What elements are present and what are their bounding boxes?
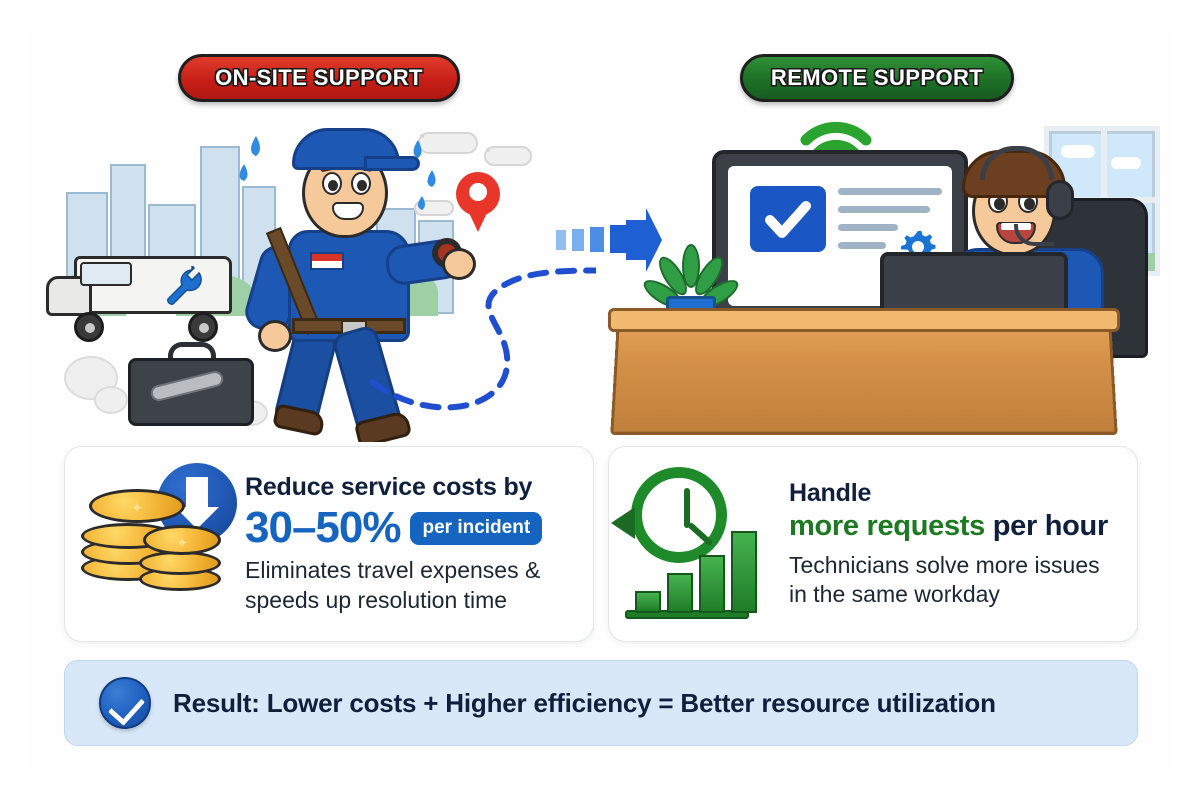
card-subtext: Eliminates travel expenses & speeds up r… (245, 556, 575, 615)
card-metric-row: more requests per hour (789, 510, 1119, 543)
per-incident-pill: per incident (410, 512, 542, 545)
dashed-route-path (366, 262, 596, 432)
technician-hand (258, 320, 292, 352)
screen-text-line (838, 224, 898, 231)
desk-top (608, 308, 1120, 332)
badge-on-site-support: ON-SITE SUPPORT (178, 54, 460, 102)
card-metric-suffix: per hour (985, 510, 1108, 542)
illustration-on-site (36, 112, 596, 442)
result-banner: Result: Lower costs + Higher efficiency … (64, 660, 1138, 746)
van-wheel (188, 312, 218, 342)
technician-eye (351, 172, 371, 195)
result-banner-text: Result: Lower costs + Higher efficiency … (173, 688, 996, 719)
bar-chart-bar (731, 531, 757, 613)
uniform-flag-patch (310, 252, 344, 270)
down-arrow-icon (186, 477, 208, 509)
card-metric-highlight: more requests (789, 510, 985, 542)
coin: ✦ (143, 525, 221, 555)
van-wheel (74, 312, 104, 342)
toolbox (128, 344, 254, 426)
card-metric-value: 30–50% (245, 506, 400, 550)
check-circle-icon (99, 677, 151, 729)
card-cost-savings: ✦ ✦ Reduce service costs by 30–50% per i… (64, 446, 594, 642)
coin: ✦ (89, 489, 185, 523)
coin-glyph: ✦ (117, 499, 157, 510)
screen-text-line (838, 242, 886, 249)
card-metric-row: 30–50% per incident (245, 506, 575, 550)
infographic-canvas: ON-SITE SUPPORT REMOTE SUPPORT (0, 0, 1200, 800)
dust-puff (94, 386, 128, 414)
clock-arrow-bar-chart-icon (609, 459, 789, 629)
wrench-icon (162, 266, 206, 308)
bar-chart-bar (635, 591, 661, 613)
checkmark-badge (750, 186, 826, 252)
bar-chart-bar (699, 555, 725, 613)
refresh-arrow-icon (611, 507, 635, 539)
coins-stack-down-arrow-icon: ✦ ✦ (65, 459, 245, 629)
screen-text-line (838, 206, 930, 213)
headset-earcup-icon (1046, 180, 1074, 220)
clock-circle-icon (631, 467, 727, 563)
card-headline: Handle (789, 479, 1119, 508)
card-cost-savings-text: Reduce service costs by 30–50% per incid… (245, 473, 593, 615)
technician-mouth (332, 202, 364, 220)
coin-glyph: ✦ (166, 534, 198, 543)
van-window (80, 262, 132, 286)
card-headline: Reduce service costs by (245, 473, 575, 502)
illustration-remote (604, 112, 1164, 442)
service-van (46, 250, 236, 340)
bar-chart-bar (667, 573, 693, 613)
check-icon (750, 186, 826, 252)
card-subtext: Technicians solve more issues in the sam… (789, 551, 1119, 610)
card-throughput: Handle more requests per hour Technician… (608, 446, 1138, 642)
badge-remote-support: REMOTE SUPPORT (740, 54, 1014, 102)
card-throughput-text: Handle more requests per hour Technician… (789, 479, 1137, 610)
technician-eye (322, 172, 342, 195)
technician-cap-brim (364, 156, 420, 171)
clock-hand-hour (687, 522, 713, 547)
